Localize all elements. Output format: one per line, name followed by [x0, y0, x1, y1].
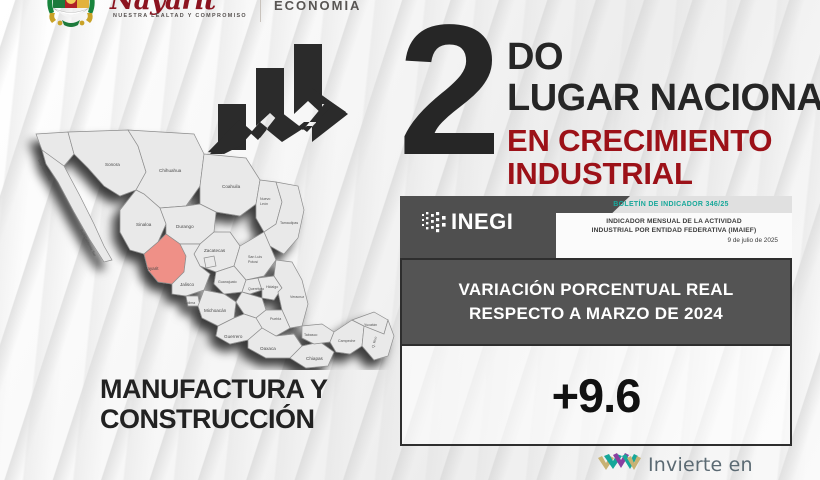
- metric-title-panel: VARIACIÓN PORCENTUAL REAL RESPECTO A MAR…: [400, 258, 792, 346]
- map-label-hidalgo: Hidalgo: [266, 285, 278, 289]
- map-label-veracruz: Veracruz: [290, 295, 304, 299]
- map-label-oaxaca: Oaxaca: [260, 346, 276, 351]
- bar-chart-up-arrow-icon: [208, 42, 348, 159]
- metric-value: +9.6: [552, 368, 641, 423]
- map-label-queretaro: Querétaro: [248, 287, 264, 291]
- metric-title-line-1: VARIACIÓN PORCENTUAL REAL: [458, 278, 733, 302]
- caption-line-1: MANUFACTURA Y: [100, 374, 328, 404]
- map-label-michoacan: Michoacán: [204, 308, 227, 313]
- inegi-indicator-card: INEGI BOLETÍN DE INDICADOR 346/25 INDICA…: [400, 196, 792, 446]
- invierte-label: Invierte en: [648, 454, 753, 476]
- inegi-logo: INEGI: [422, 209, 513, 235]
- metric-title-line-2: RESPECTO A MARZO DE 2024: [469, 302, 723, 326]
- department-label: ECONOMÍA: [274, 0, 362, 13]
- nayarit-coat-of-arms-icon: [40, 0, 102, 26]
- metric-value-panel: +9.6: [400, 346, 792, 446]
- map-label-nuevo-leon2: León: [260, 202, 268, 206]
- map-label-durango: Durango: [176, 224, 194, 229]
- rank-number: 2: [398, 16, 491, 166]
- map-label-chihuahua: Chihuahua: [159, 168, 182, 173]
- bulletin-label: BOLETÍN DE INDICADOR 346/25: [556, 201, 786, 208]
- map-label-coahuila: Coahuila: [222, 184, 241, 189]
- indicator-info-panel: INDICADOR MENSUAL DE LA ACTIVIDAD INDUST…: [556, 213, 792, 258]
- card-header: INEGI BOLETÍN DE INDICADOR 346/25 INDICA…: [400, 196, 792, 258]
- sector-caption: MANUFACTURA Y CONSTRUCCIÓN: [100, 374, 328, 434]
- map-label-guanajuato: Guanajuato: [218, 280, 237, 284]
- map-label-tabasco: Tabasco: [304, 333, 317, 337]
- state-name: Nayarit: [110, 0, 247, 12]
- headline-line4: INDUSTRIAL: [507, 158, 820, 190]
- map-label-colima: Colima: [184, 301, 195, 305]
- caption-line-2: CONSTRUCCIÓN: [100, 404, 328, 434]
- invierte-chevrons-icon: [596, 452, 642, 478]
- invierte-en-logo: Invierte en: [596, 452, 753, 478]
- brand-divider: [260, 0, 261, 22]
- inegi-wordmark: INEGI: [451, 209, 513, 235]
- brand-tagline: NUESTRA LEALTAD Y COMPROMISO: [110, 13, 247, 19]
- indicator-line-1: INDICADOR MENSUAL DE LA ACTIVIDAD: [556, 217, 792, 226]
- state-wordmark: Nayarit NUESTRA LEALTAD Y COMPROMISO: [110, 0, 247, 19]
- map-label-sonora: Sonora: [105, 162, 120, 167]
- headline-line2: LUGAR NACIONAL: [507, 76, 820, 120]
- headline-line3: EN CRECIMIENTO: [507, 124, 820, 158]
- map-label-zacatecas: Zacatecas: [204, 248, 226, 253]
- publication-date: 9 de julio de 2025: [556, 237, 792, 244]
- map-label-campeche: Campeche: [338, 339, 355, 343]
- map-label-jalisco: Jalisco: [180, 282, 194, 287]
- rank-suffix: DO: [507, 38, 820, 76]
- map-label-tamaulipas: Tamaulipas: [280, 221, 298, 225]
- inegi-dot-matrix-icon: [422, 211, 448, 233]
- map-label-potosi: Potosí: [248, 260, 258, 264]
- map-label-sinaloa: Sinaloa: [136, 222, 152, 227]
- map-label-chiapas: Chiapas: [306, 356, 324, 361]
- indicator-line-2: INDUSTRIAL POR ENTIDAD FEDERATIVA (IMAIE…: [556, 226, 792, 235]
- map-label-yucatan: Yucatán: [364, 323, 377, 327]
- headline-lines: DO LUGAR NACIONAL EN CRECIMIENTO INDUSTR…: [507, 38, 820, 190]
- brand-header: Nayarit NUESTRA LEALTAD Y COMPROMISO ECO…: [0, 0, 820, 30]
- map-label-puebla: Puebla: [270, 317, 281, 321]
- map-label-guerrero: Guerrero: [224, 334, 243, 339]
- map-label-nuevo-leon: Nuevo: [260, 197, 270, 201]
- map-label-san-luis: San Luis: [248, 255, 262, 259]
- card-header-info: BOLETÍN DE INDICADOR 346/25 INDICADOR ME…: [556, 196, 792, 258]
- map-label-nayarit: Nayarit: [144, 266, 159, 271]
